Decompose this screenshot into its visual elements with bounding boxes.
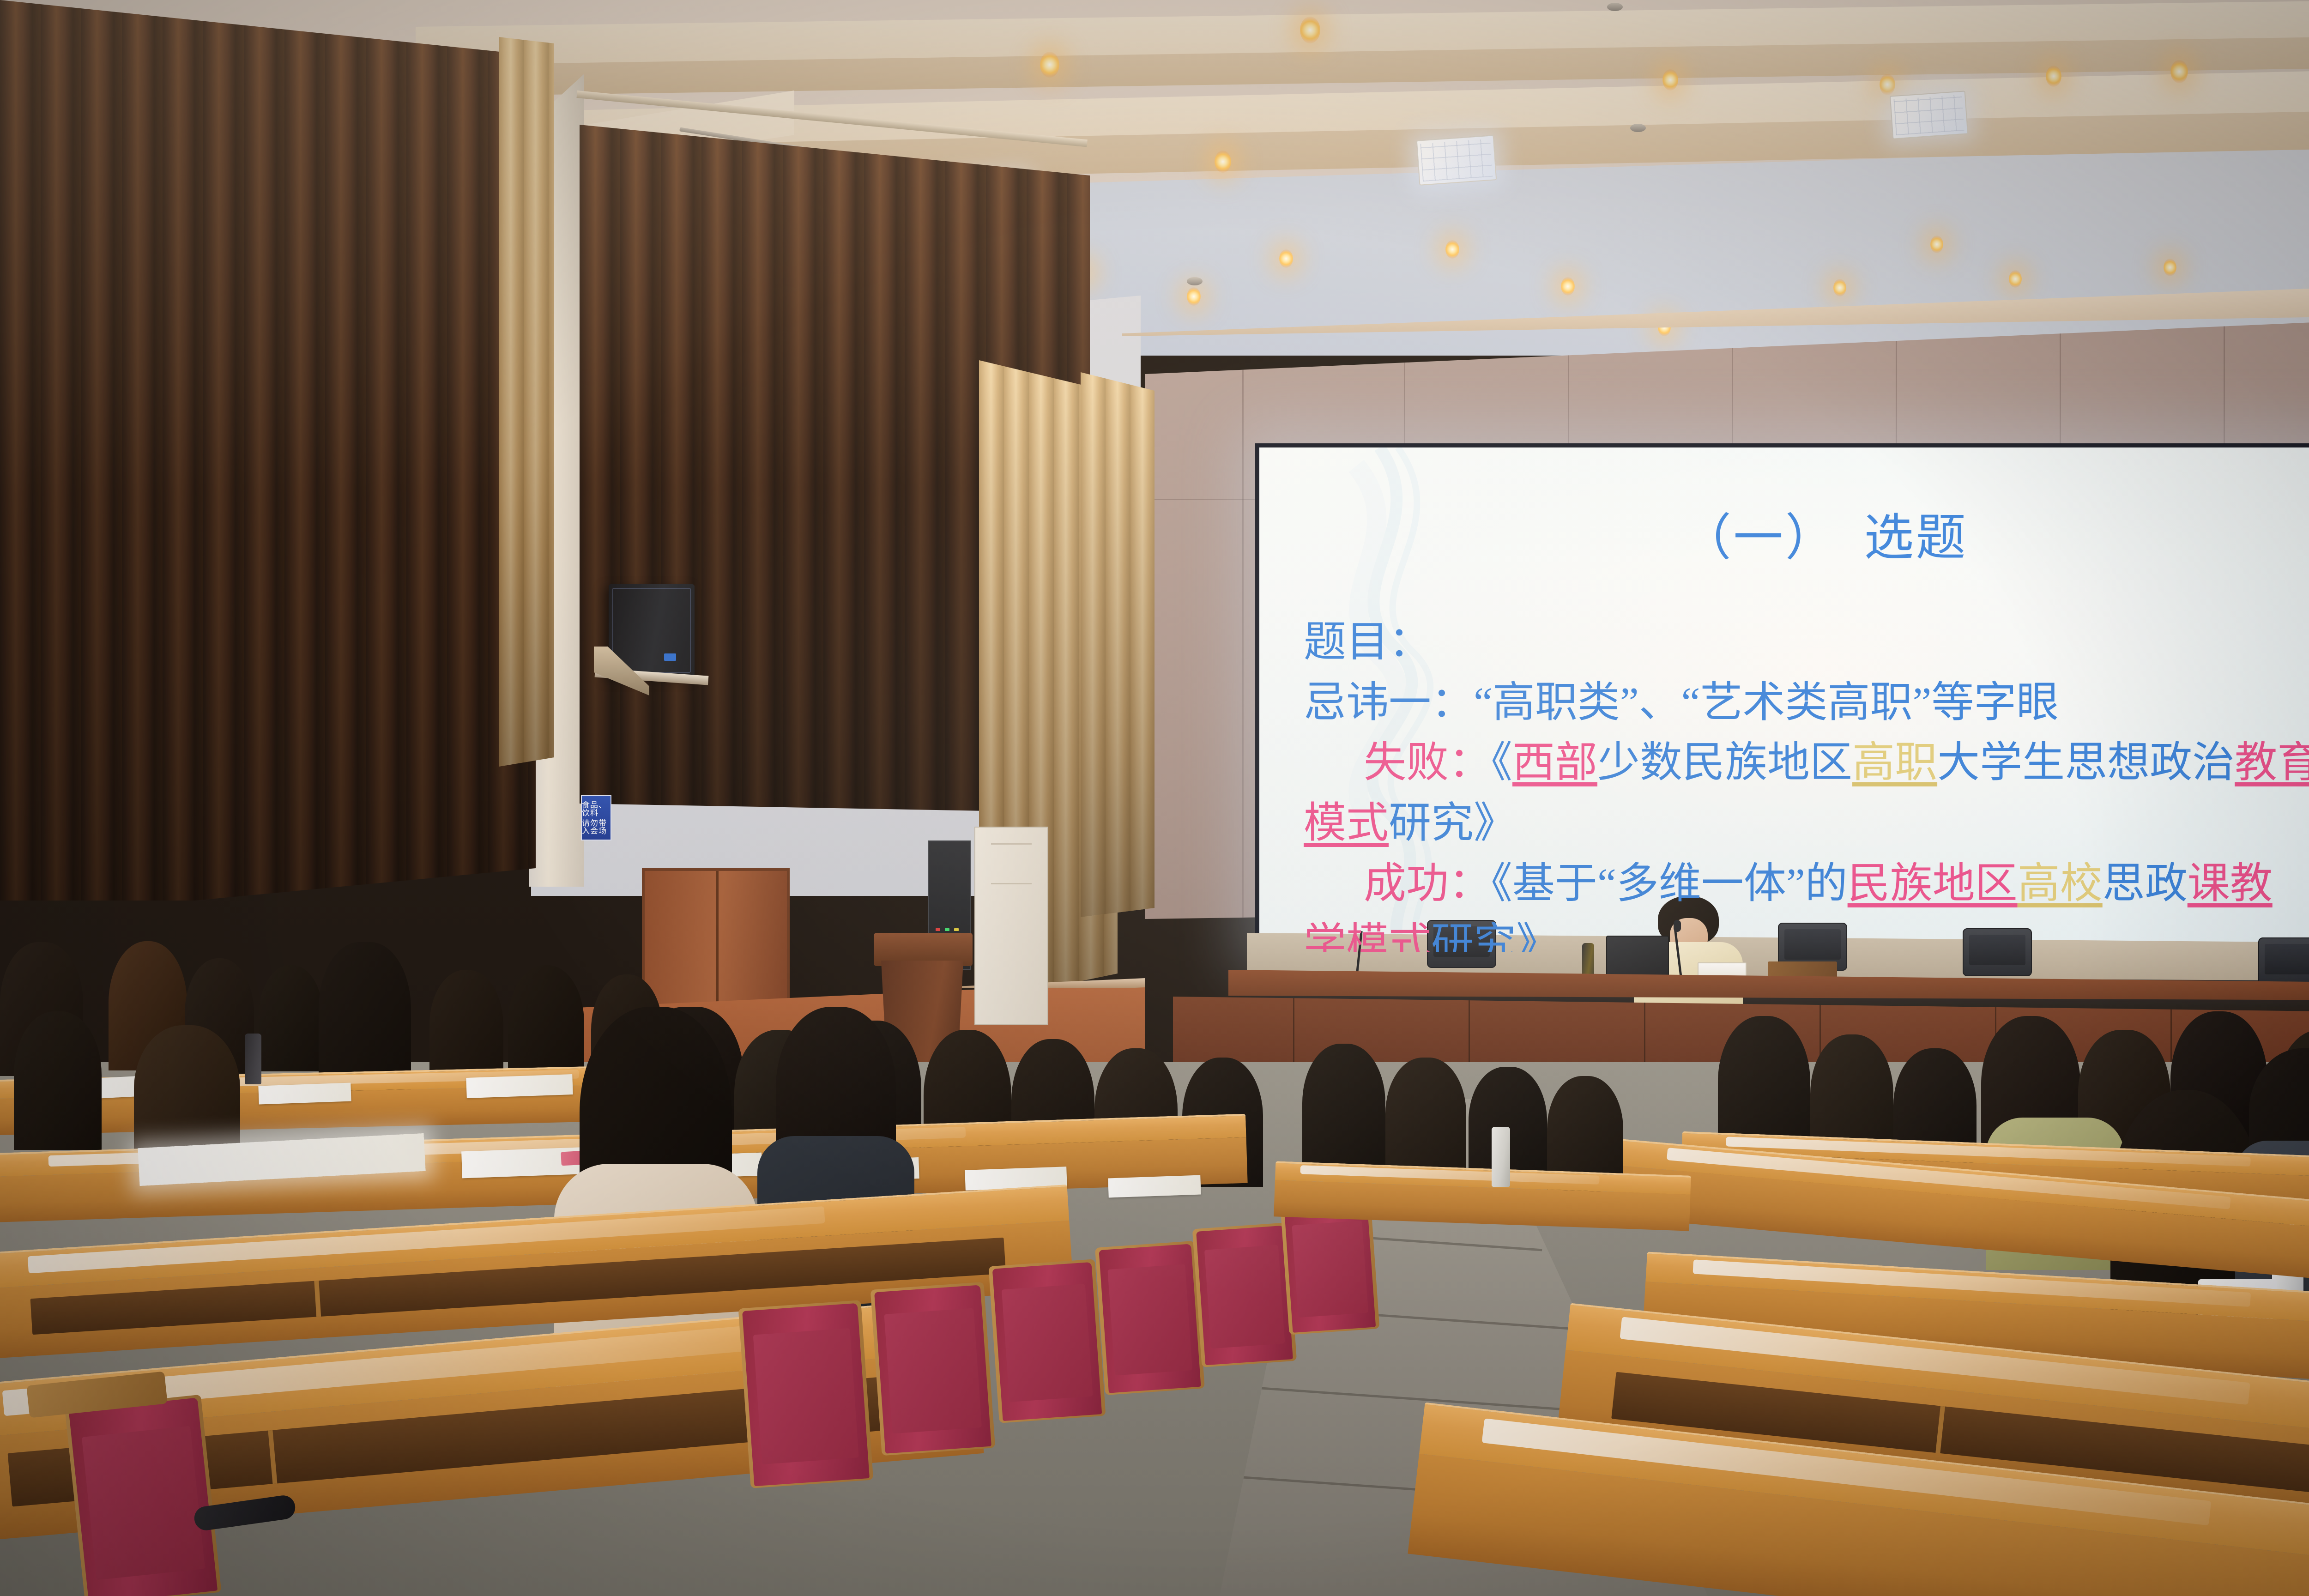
person-head xyxy=(1385,1058,1466,1180)
auditorium-seat[interactable] xyxy=(1099,1244,1201,1393)
downlight-2 xyxy=(1040,52,1059,78)
slide-text-segment: 民族地区 xyxy=(1848,860,2018,907)
smoke-detector-icon-3 xyxy=(1187,277,1203,285)
slide-text-segment: 忌讳一：“高职类”、“艺术类高职”等字眼 xyxy=(1304,679,2059,726)
water-bottle-npc xyxy=(1492,1127,1510,1187)
slide-line-4: 成功：《基于“多维一体”的民族地区高校思政课教 xyxy=(1304,853,2309,914)
curtain-gold-right xyxy=(1081,372,1154,917)
paper xyxy=(1108,1175,1201,1198)
paper xyxy=(258,1083,351,1105)
slide-text-segment: 大学生思想政治 xyxy=(1937,739,2235,786)
downlight-16 xyxy=(1561,277,1575,296)
slide-text-segment: 思政 xyxy=(2103,860,2188,907)
person-head xyxy=(134,1025,240,1164)
person-head xyxy=(1302,1044,1385,1173)
lecture-hall-photo: 食品、饮料 请勿带入会场 （一） 选题 xyxy=(0,0,2309,1596)
slide-text-segment: 《 xyxy=(1491,739,1512,786)
slide-line-0: 题目： xyxy=(1304,612,2309,672)
downlight-14 xyxy=(1279,249,1293,268)
downlight-18 xyxy=(1833,279,1846,296)
projection-screen[interactable]: （一） 选题 题目：忌讳一：“高职类”、“艺术类高职”等字眼失败：《西部少数民族… xyxy=(1259,447,2309,952)
slide-text-segment: 高校 xyxy=(2018,860,2103,907)
slide-line-2: 失败：《西部少数民族地区高职大学生思想政治教育 xyxy=(1304,732,2309,793)
ceiling-panel-light-2 xyxy=(1416,135,1497,185)
person-head xyxy=(14,1011,102,1150)
slide-text-segment: 研究》 xyxy=(1389,799,1516,846)
slide-title: （一） 选题 xyxy=(1304,497,2309,569)
person-head xyxy=(429,970,503,1085)
slide-line-1: 忌讳一：“高职类”、“艺术类高职”等字眼 xyxy=(1304,672,2309,733)
smoke-detector-icon xyxy=(1607,3,1623,11)
jbl-logo-icon xyxy=(664,653,676,661)
curtain-gold-left xyxy=(499,37,554,767)
downlight-20 xyxy=(2009,270,2022,288)
auditorium-seat-foreground[interactable] xyxy=(69,1398,218,1596)
slide-line-5: 学模式研究》 xyxy=(1304,913,2309,952)
slide-text-segment: 高职 xyxy=(1852,739,1937,786)
ceiling-panel-light-3 xyxy=(1890,91,1968,139)
slide-text-segment: 少数民族地区 xyxy=(1597,739,1852,786)
auditorium-seat[interactable] xyxy=(1284,1203,1376,1333)
wall-cabinet xyxy=(974,827,1048,1025)
auditorium-seat[interactable] xyxy=(874,1285,991,1453)
downlight-15 xyxy=(1445,240,1459,259)
slide-text-segment: 题目： xyxy=(1304,618,1431,665)
downlight-7 xyxy=(1662,69,1678,91)
slide-text-segment: 学模式 xyxy=(1304,920,1431,952)
slide-line-3: 模式研究》 xyxy=(1304,793,2309,853)
paper xyxy=(466,1074,573,1098)
downlight-9 xyxy=(2046,66,2061,87)
notice-line-1: 食品、饮料 xyxy=(582,801,610,817)
downlight-6 xyxy=(1215,151,1231,173)
auditorium-seat[interactable] xyxy=(1196,1226,1293,1366)
wall-notice-sign: 食品、饮料 请勿带入会场 xyxy=(581,795,611,840)
auditorium-seat[interactable] xyxy=(992,1262,1102,1421)
slide-text-segment: 模式 xyxy=(1304,799,1389,846)
slide-text-segment: 教育 xyxy=(2235,739,2309,786)
slide-text-segment: 课教 xyxy=(2188,860,2273,907)
downlight-4 xyxy=(2170,60,2188,83)
downlight-13 xyxy=(1187,287,1201,306)
downlight-8 xyxy=(1880,74,1895,95)
auditorium-seat[interactable] xyxy=(742,1303,870,1487)
water-bottle xyxy=(245,1034,261,1084)
slide-text-segment: 研究》 xyxy=(1431,920,1559,952)
curtain-dark-left xyxy=(0,0,536,901)
projection-screen-frame: （一） 选题 题目：忌讳一：“高职类”、“艺术类高职”等字眼失败：《西部少数民族… xyxy=(1255,443,2309,956)
downlight-3 xyxy=(1300,17,1320,43)
person-head xyxy=(259,965,323,1071)
slide-text-segment: 成功： xyxy=(1364,860,1491,907)
downlight-21 xyxy=(2164,259,2176,276)
notice-line-2: 请勿带入会场 xyxy=(582,819,610,835)
slide-text-segment: 《基于“多维一体”的 xyxy=(1491,860,1848,907)
smoke-detector-icon-2 xyxy=(1630,124,1646,132)
slide-text-segment: 失败： xyxy=(1364,739,1491,786)
downlight-19 xyxy=(1930,236,1943,253)
slide-text-segment: 西部 xyxy=(1512,739,1597,786)
